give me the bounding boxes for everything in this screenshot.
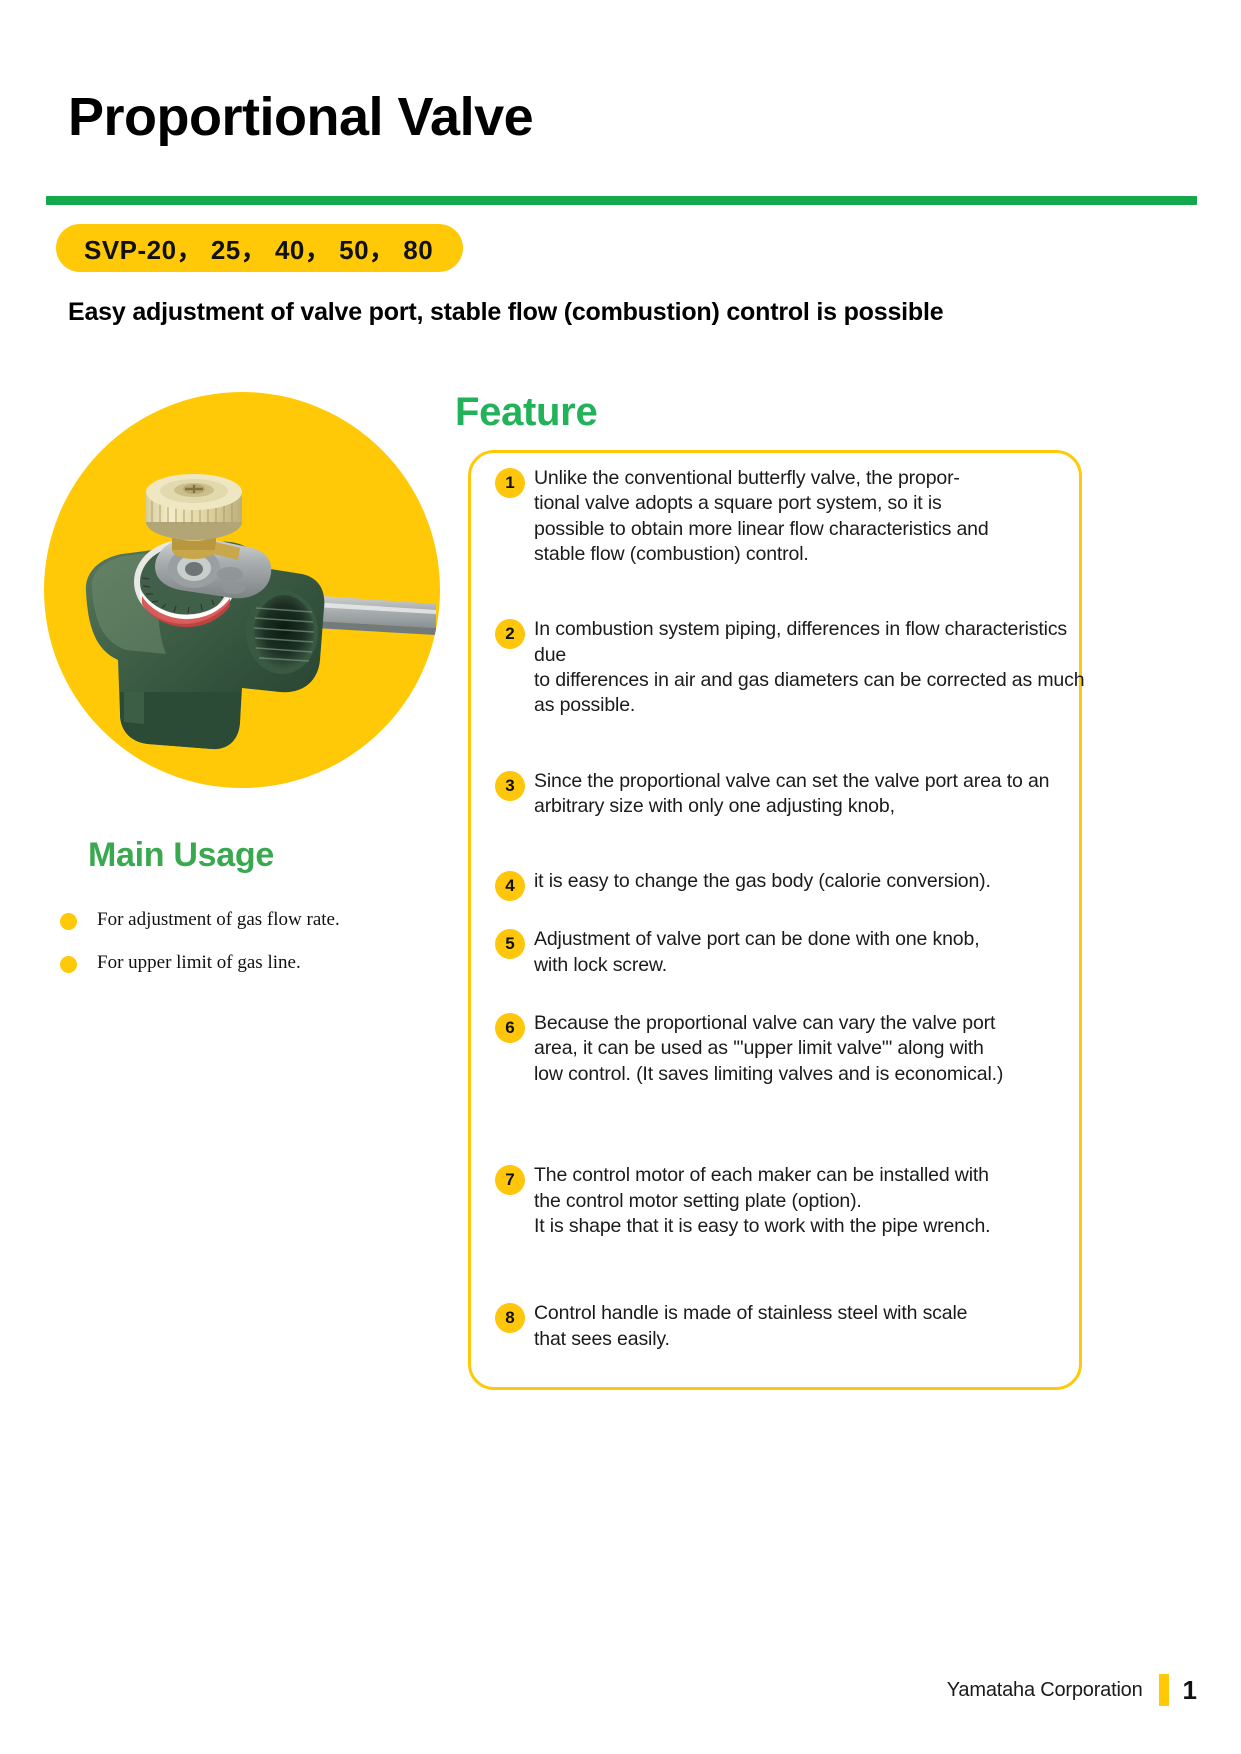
feature-number-badge: 8 [495,1303,525,1333]
usage-item-label: For adjustment of gas flow rate. [97,908,340,933]
feature-number-badge: 3 [495,771,525,801]
model-number-badge: SVP-20， 25， 40， 50， 80 [56,224,463,272]
feature-number-badge: 1 [495,468,525,498]
feature-item-3: 3 Since the proportional valve can set t… [495,769,1095,820]
product-photo-circle [44,392,440,788]
page-subtitle: Easy adjustment of valve port, stable fl… [68,298,943,327]
feature-item-text: Because the proportional valve can vary … [534,1011,1003,1087]
feature-item-text: Adjustment of valve port can be done wit… [534,927,979,978]
proportional-valve-illustration [44,392,440,788]
feature-number-badge: 6 [495,1013,525,1043]
feature-item-5: 5 Adjustment of valve port can be done w… [495,927,1095,978]
page-number: 1 [1183,1675,1197,1706]
feature-item-text: The control motor of each maker can be i… [534,1163,990,1239]
feature-item-text: Unlike the conventional butterfly valve,… [534,466,989,567]
green-divider-rule [46,196,1197,205]
bullet-dot-icon [60,956,77,973]
feature-number-badge: 4 [495,871,525,901]
feature-heading: Feature [455,390,597,435]
footer-accent-bar [1159,1674,1169,1706]
feature-number-badge: 7 [495,1165,525,1195]
usage-item-label: For upper limit of gas line. [97,951,301,976]
feature-item-8: 8 Control handle is made of stainless st… [495,1301,1095,1352]
feature-item-6: 6 Because the proportional valve can var… [495,1011,1095,1087]
page-title: Proportional Valve [68,88,533,147]
feature-number-badge: 2 [495,619,525,649]
footer-company-name: Yamataha Corporation [947,1679,1143,1702]
page-footer: Yamataha Corporation 1 [947,1674,1197,1706]
feature-list: 1 Unlike the conventional butterfly valv… [495,466,1095,1352]
bullet-dot-icon [60,913,77,930]
feature-item-text: it is easy to change the gas body (calor… [534,869,991,894]
feature-item-text: In combustion system piping, differences… [534,617,1095,718]
feature-item-7: 7 The control motor of each maker can be… [495,1163,1095,1239]
feature-item-2: 2 In combustion system piping, differenc… [495,617,1095,718]
feature-number-badge: 5 [495,929,525,959]
main-usage-heading: Main Usage [88,836,274,875]
feature-item-4: 4 it is easy to change the gas body (cal… [495,869,1095,901]
feature-item-text: Control handle is made of stainless stee… [534,1301,967,1352]
list-item: For upper limit of gas line. [60,951,460,976]
list-item: For adjustment of gas flow rate. [60,908,460,933]
feature-item-1: 1 Unlike the conventional butterfly valv… [495,466,1095,567]
feature-item-text: Since the proportional valve can set the… [534,769,1049,820]
main-usage-list: For adjustment of gas flow rate. For upp… [60,908,460,993]
